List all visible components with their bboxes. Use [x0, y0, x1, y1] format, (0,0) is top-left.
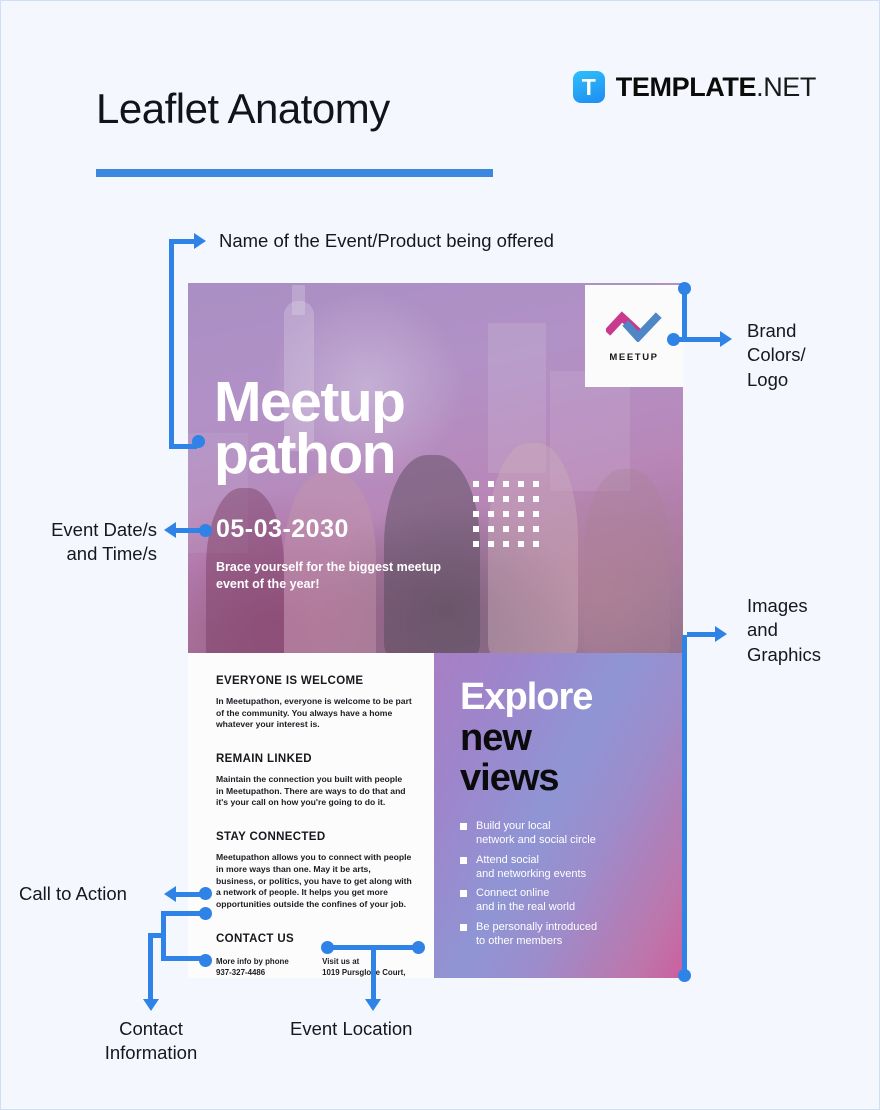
callout-dot-cta: [199, 887, 212, 900]
flyer-event-date: 05-03-2030: [216, 515, 349, 544]
section-body: Maintain the connection you built with p…: [216, 774, 412, 809]
leaflet-flyer: MEETUP Meetup pathon 05-03-2030 Brace yo…: [188, 283, 683, 978]
annotation-brand-line-1: Brand: [747, 319, 806, 343]
template-net-logo: T TEMPLATE.NET: [573, 71, 816, 103]
square-bullet-icon: [460, 857, 467, 864]
callout-arrow-cta: [164, 886, 176, 902]
page-title: Leaflet Anatomy: [96, 85, 390, 133]
annotation-images-line-3: Graphics: [747, 643, 821, 667]
callout-arrow-location: [365, 999, 381, 1011]
flyer-explore-panel: Explore new views Build your local netwo…: [434, 653, 683, 978]
callout-line-contact-down: [148, 933, 153, 1001]
annotation-contact-line-2: Information: [46, 1041, 256, 1065]
section-remain-linked: REMAIN LINKED Maintain the connection yo…: [216, 753, 412, 809]
annotation-call-to-action: Call to Action: [19, 882, 127, 906]
section-heading: STAY CONNECTED: [216, 831, 412, 843]
explore-heading-white: Explore: [460, 677, 663, 718]
list-item-text: Be personally introduced to other member…: [476, 920, 597, 949]
brand-tld-text: .NET: [756, 72, 816, 102]
square-bullet-icon: [460, 823, 467, 830]
annotation-images-graphics: Images and Graphics: [747, 594, 821, 667]
flyer-title-line-1: Meetup: [214, 376, 405, 428]
meetup-logo-text: MEETUP: [609, 352, 658, 363]
callout-dot-location-right: [412, 941, 425, 954]
callout-dot-date: [199, 524, 212, 537]
annotation-contact-information: Contact Information: [46, 1017, 256, 1066]
list-item: Connect online and in the real world: [460, 886, 663, 915]
callout-arrow-event-name: [194, 233, 206, 249]
contact-details: More info by phone 937-327-4486 meetupat…: [216, 956, 412, 978]
template-net-mark-icon: T: [573, 71, 605, 103]
explore-heading-black-2: views: [460, 758, 663, 799]
callout-line-brand-vert: [682, 287, 687, 342]
section-stay-connected: STAY CONNECTED Meetupathon allows you to…: [216, 831, 412, 910]
callout-line-contact-top-stub: [161, 911, 203, 916]
annotation-event-date: Event Date/s and Time/s: [25, 518, 157, 567]
callout-dot-event-name: [192, 435, 205, 448]
callout-line-contact-elbow: [148, 933, 166, 938]
page-canvas: Leaflet Anatomy T TEMPLATE.NET: [0, 0, 880, 1110]
contact-phone-block: More info by phone 937-327-4486 meetupat…: [216, 956, 306, 978]
flyer-info-column: EVERYONE IS WELCOME In Meetupathon, ever…: [188, 653, 434, 978]
annotation-brand-line-3: Logo: [747, 368, 806, 392]
dot-grid-graphic: [473, 481, 539, 547]
contact-us-heading: CONTACT US: [216, 933, 412, 945]
callout-arrow-date: [164, 522, 176, 538]
callout-arrow-contact: [143, 999, 159, 1011]
annotation-date-line-1: Event Date/s: [25, 518, 157, 542]
callout-line-event-name-vert: [169, 241, 174, 449]
meetup-logo-icon: [606, 310, 662, 342]
annotation-contact-line-1: Contact: [46, 1017, 256, 1041]
annotation-images-line-2: and: [747, 618, 821, 642]
list-item-text: Build your local network and social circ…: [476, 819, 596, 848]
callout-dot-location-left: [321, 941, 334, 954]
section-body: Meetupathon allows you to connect with p…: [216, 852, 412, 910]
callout-line-location-vert: [371, 945, 376, 1001]
explore-heading-black-1: new: [460, 718, 663, 759]
title-underline-rule: [96, 169, 493, 177]
section-body: In Meetupathon, everyone is welcome to b…: [216, 696, 412, 731]
contact-address-block: Visit us at 1019 Pursglove Court, Spring…: [322, 956, 405, 978]
visit-label: Visit us at: [322, 956, 405, 967]
annotation-event-location: Event Location: [290, 1017, 412, 1041]
address-line-1: 1019 Pursglove Court,: [322, 967, 405, 978]
phone-number: 937-327-4486: [216, 967, 306, 978]
annotation-event-name: Name of the Event/Product being offered: [219, 229, 554, 253]
square-bullet-icon: [460, 924, 467, 931]
list-item: Be personally introduced to other member…: [460, 920, 663, 949]
explore-heading: Explore new views: [460, 677, 663, 799]
hero-photo: MEETUP Meetup pathon 05-03-2030 Brace yo…: [188, 283, 683, 653]
callout-arrow-images: [715, 626, 727, 642]
callout-arrow-brand: [720, 331, 732, 347]
list-item: Attend social and networking events: [460, 853, 663, 882]
annotation-images-line-1: Images: [747, 594, 821, 618]
benefits-list: Build your local network and social circ…: [460, 819, 663, 948]
section-heading: EVERYONE IS WELCOME: [216, 675, 412, 687]
annotation-brand-line-2: Colors/: [747, 343, 806, 367]
phone-label: More info by phone: [216, 956, 306, 967]
flyer-title: Meetup pathon: [214, 376, 405, 481]
flyer-title-line-2: pathon: [214, 428, 405, 480]
list-item: Build your local network and social circ…: [460, 819, 663, 848]
section-heading: REMAIN LINKED: [216, 753, 412, 765]
annotation-date-line-2: and Time/s: [25, 542, 157, 566]
callout-line-contact-bottom-stub: [161, 956, 203, 961]
callout-dot-brand-inner: [667, 333, 680, 346]
flyer-tagline: Brace yourself for the biggest meetup ev…: [216, 559, 456, 592]
template-net-wordmark: TEMPLATE.NET: [616, 72, 816, 103]
callout-line-event-name-horz: [169, 239, 197, 244]
brand-bold-text: TEMPLATE: [616, 72, 756, 102]
callout-dot-brand-top: [678, 282, 691, 295]
list-item-text: Connect online and in the real world: [476, 886, 575, 915]
annotation-brand-colors-logo: Brand Colors/ Logo: [747, 319, 806, 392]
callout-line-images-horz: [687, 632, 717, 637]
list-item-text: Attend social and networking events: [476, 853, 586, 882]
callout-line-images-vert: [682, 635, 687, 975]
callout-dot-images-bottom: [678, 969, 691, 982]
square-bullet-icon: [460, 890, 467, 897]
section-everyone-is-welcome: EVERYONE IS WELCOME In Meetupathon, ever…: [216, 675, 412, 731]
